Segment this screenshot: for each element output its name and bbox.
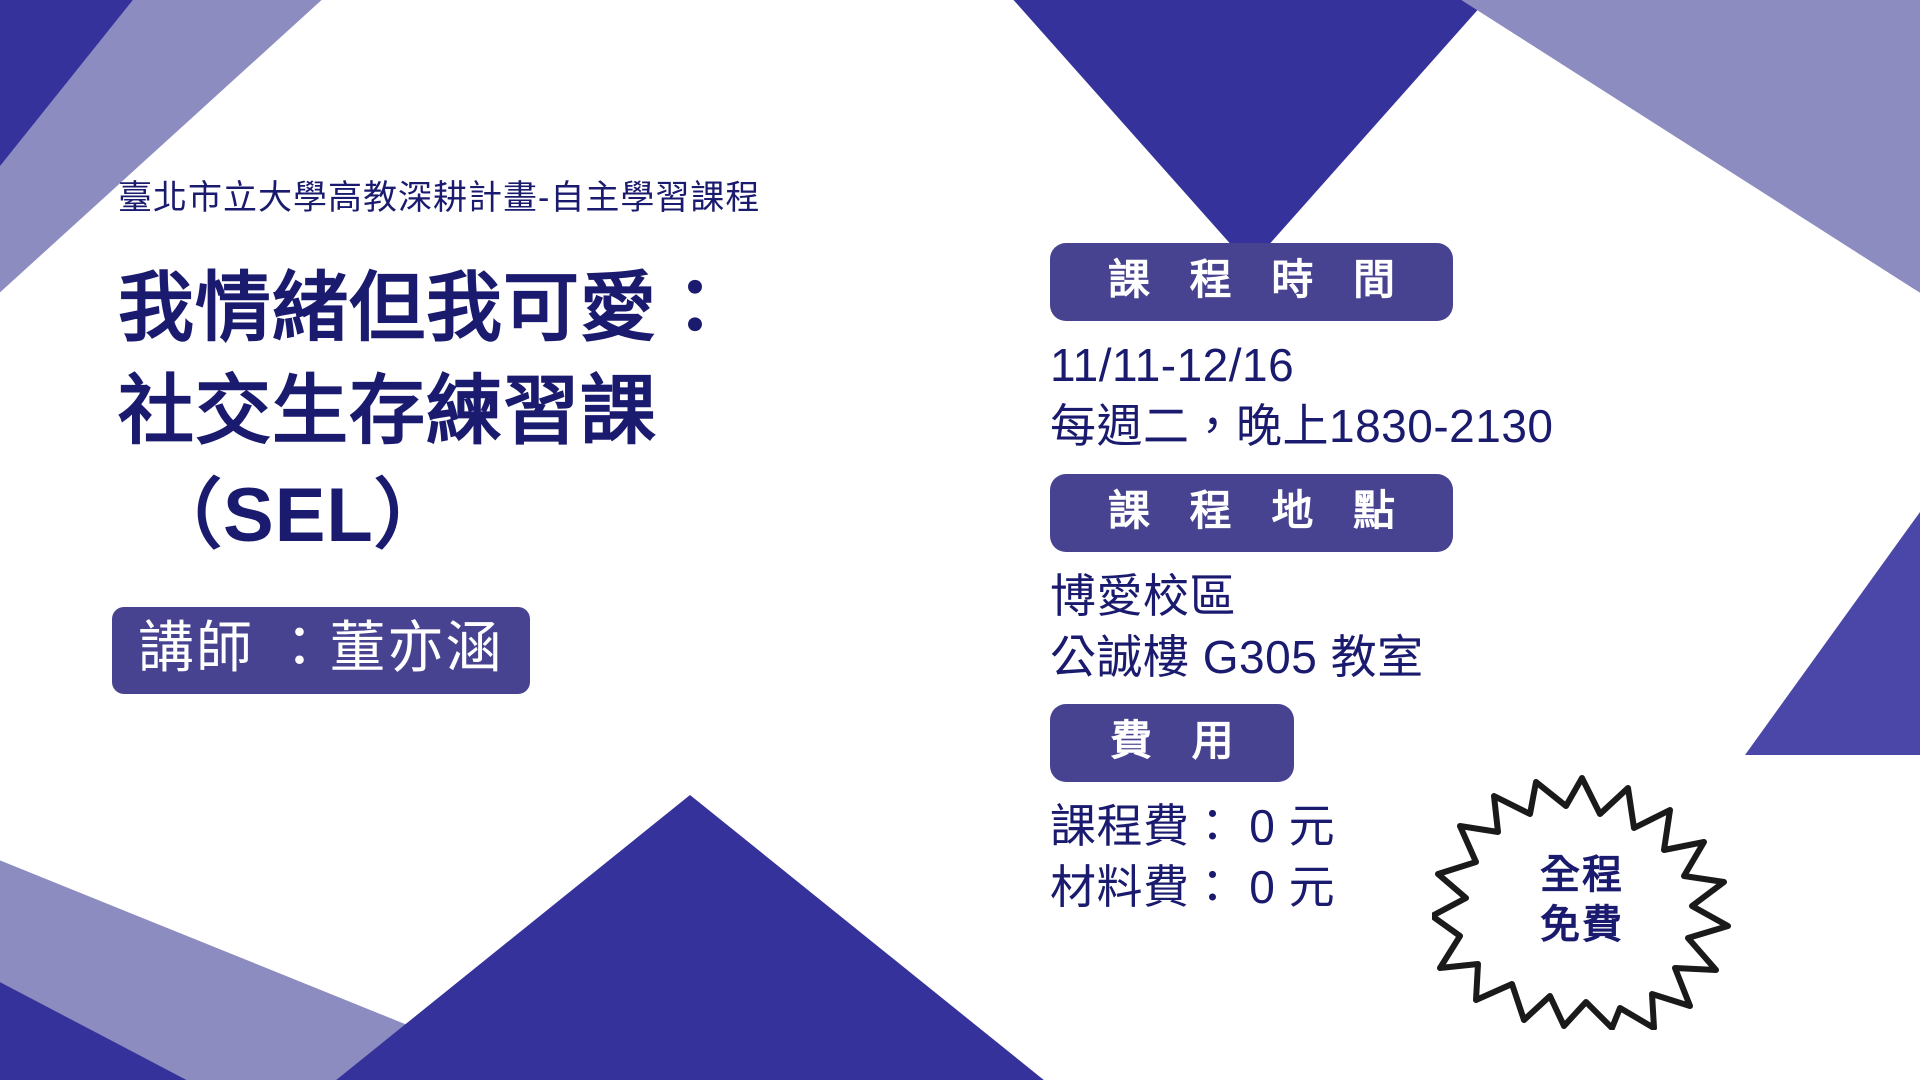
instructor-badge: 講師 ：董亦涵 [112,607,530,695]
course-time-range: 11/11-12/16 [1050,335,1610,396]
decor-bottom-left-periwinkle-triangle [0,795,556,1080]
decor-bottom-center-triangle [330,795,1050,1080]
course-time-details: 11/11-12/16 每週二，晚上1830-2130 [1050,335,1610,457]
decor-right-middle-wedge [1745,505,1920,755]
location-campus: 博愛校區 [1050,566,1610,627]
title-line-1: 我情緒但我可愛： [118,257,878,360]
location-room: 公誠樓 G305 教室 [1050,627,1610,688]
spacer-after-location [1050,688,1610,704]
section-heading-course-time: 課 程 時 間 [1050,243,1453,321]
poster-headline-column: 臺北市立大學高教深耕計畫-自主學習課程 我情緒但我可愛： 社交生存練習課 （SE… [118,178,878,694]
decor-bottom-left-corner [0,980,196,1080]
starburst-line-2: 免費 [1540,900,1624,950]
course-time-weekly: 每週二，晚上1830-2130 [1050,396,1610,457]
title-line-2: 社交生存練習課 [118,360,878,463]
program-eyebrow: 臺北市立大學高教深耕計畫-自主學習課程 [118,178,878,219]
decor-top-center-chevron [1010,0,1490,266]
starburst-label: 全程 免費 [1432,770,1732,1030]
section-heading-course-location: 課 程 地 點 [1050,474,1453,552]
free-starburst-badge: 全程 免費 [1432,770,1732,1030]
decor-top-left-indigo-wedge [0,0,136,171]
section-heading-fee: 費 用 [1050,704,1294,782]
page-title: 我情緒但我可愛： 社交生存練習課 （SEL） [118,257,878,567]
course-poster: 臺北市立大學高教深耕計畫-自主學習課程 我情緒但我可愛： 社交生存練習課 （SE… [0,0,1920,1080]
course-location-details: 博愛校區 公誠樓 G305 教室 [1050,566,1610,688]
starburst-line-1: 全程 [1540,850,1624,900]
spacer-after-time [1050,458,1610,474]
title-line-3: （SEL） [118,464,878,567]
